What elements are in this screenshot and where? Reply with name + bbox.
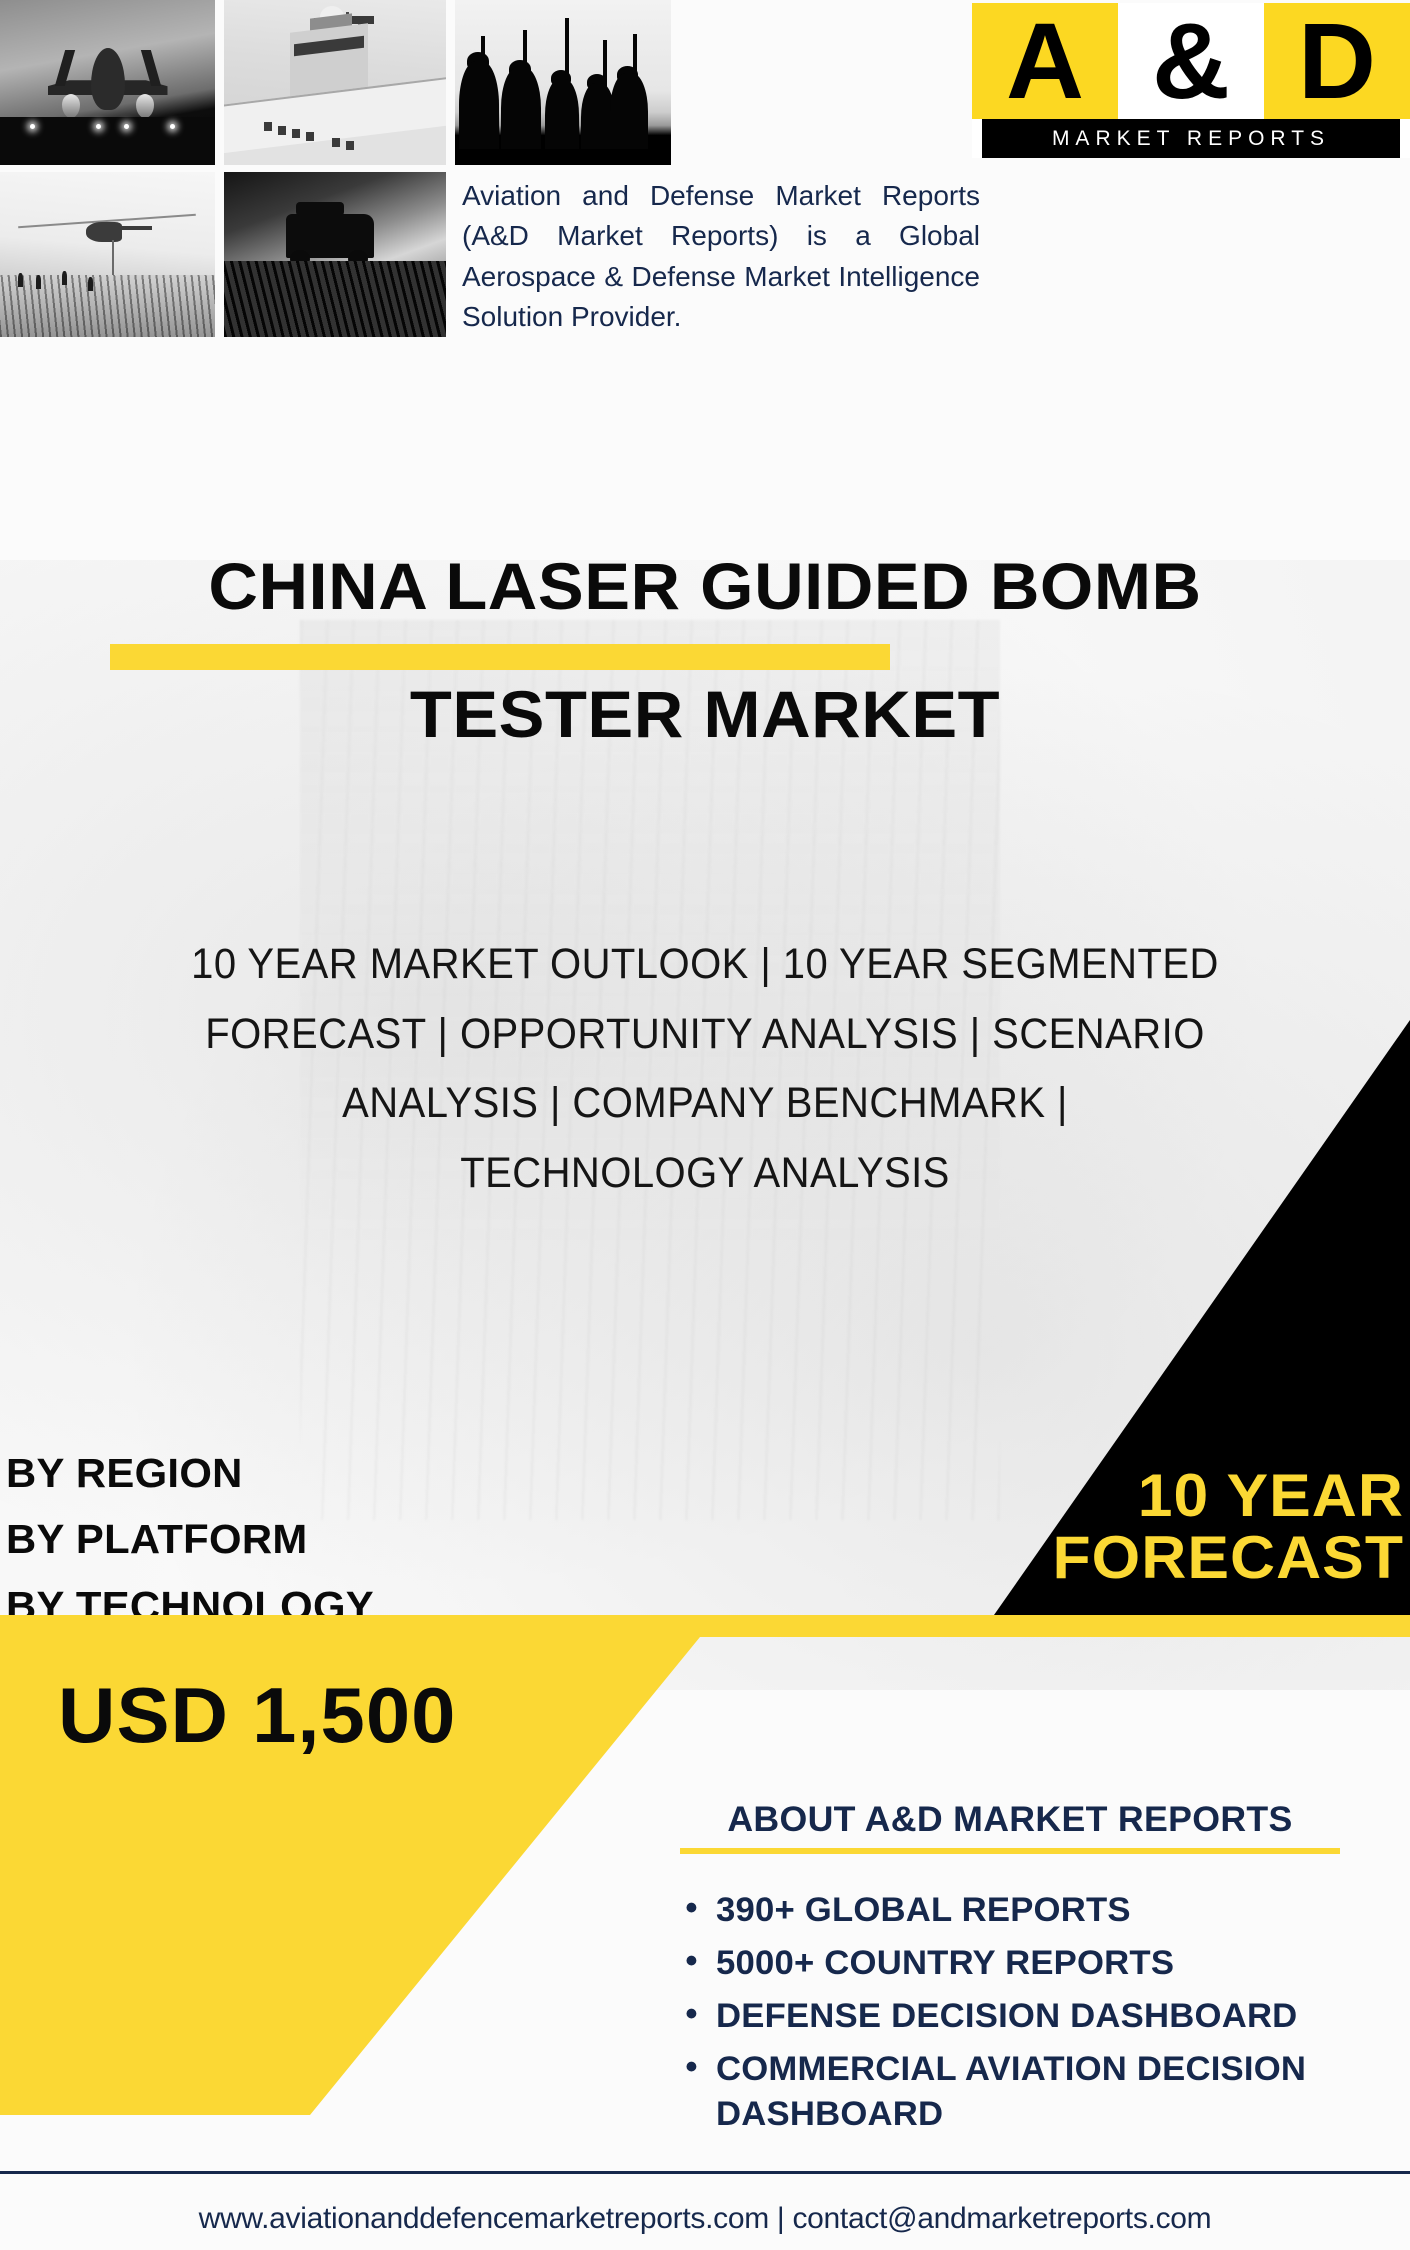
segmentation-item-platform: BY PLATFORM xyxy=(6,1506,638,1572)
segmentation-list: BY REGION BY PLATFORM BY TECHNOLOGY xyxy=(6,1440,626,1639)
about-list-item: 390+ GLOBAL REPORTS xyxy=(716,1888,1373,1933)
segmentation-item-region: BY REGION xyxy=(6,1440,638,1506)
subtitle-block: 10 YEAR MARKET OUTLOOK | 10 YEAR SEGMENT… xyxy=(0,930,1410,1209)
about-heading: ABOUT A&D MARKET REPORTS xyxy=(653,1800,1367,1840)
report-cover-page: A & D MARKET REPORTS Aviation and Defens… xyxy=(0,0,1410,2250)
photo-soldiers-silhouette xyxy=(455,0,671,165)
about-list-item: 5000+ COUNTRY REPORTS xyxy=(716,1941,1373,1986)
subtitle-line-3: ANALYSIS | COMPANY BENCHMARK | xyxy=(49,1069,1360,1139)
about-list-item: DEFENSE DECISION DASHBOARD xyxy=(716,1994,1373,2039)
page-title-line1: CHINA LASER GUIDED BOMB xyxy=(0,548,1410,624)
about-section: ABOUT A&D MARKET REPORTS 390+ GLOBAL REP… xyxy=(660,1800,1360,2144)
logo-cell-a: A xyxy=(972,3,1118,119)
forecast-badge-line1: 10 YEAR xyxy=(963,1465,1404,1526)
about-heading-rule xyxy=(680,1848,1340,1854)
logo-letter-a: A xyxy=(1006,10,1084,112)
subtitle-line-4: TECHNOLOGY ANALYSIS xyxy=(49,1139,1360,1209)
title-underline-rule xyxy=(110,644,890,670)
logo-cell-ampersand: & xyxy=(1118,3,1264,119)
photo-naval-warship xyxy=(224,0,446,165)
subtitle-line-2: FORECAST | OPPORTUNITY ANALYSIS | SCENAR… xyxy=(49,1000,1360,1070)
page-title-line2: TESTER MARKET xyxy=(0,676,1410,752)
forecast-badge: 10 YEAR FORECAST xyxy=(980,1465,1410,1591)
subtitle-line-1: 10 YEAR MARKET OUTLOOK | 10 YEAR SEGMENT… xyxy=(49,930,1360,1000)
photo-fighter-jet-on-carrier-deck xyxy=(0,0,215,165)
company-description: Aviation and Defense Market Reports (A&D… xyxy=(462,176,980,337)
forecast-badge-line2: FORECAST xyxy=(963,1526,1404,1591)
photo-military-helicopter-over-field xyxy=(0,172,215,337)
logo-letter-ampersand: & xyxy=(1152,10,1230,112)
brand-logo: A & D MARKET REPORTS xyxy=(972,3,1410,158)
logo-tagline: MARKET REPORTS xyxy=(1052,127,1330,151)
logo-cell-d: D xyxy=(1264,3,1410,119)
about-list-item: COMMERCIAL AVIATION DECISION DASHBOARD xyxy=(716,2047,1373,2137)
footer-contact[interactable]: www.aviationanddefencemarketreports.com … xyxy=(0,2202,1410,2236)
about-bullet-list: 390+ GLOBAL REPORTS 5000+ COUNTRY REPORT… xyxy=(660,1888,1360,2136)
photo-armored-vehicle-at-dusk xyxy=(224,172,446,337)
price-label: USD 1,500 xyxy=(58,1670,456,1761)
logo-tagline-bar: MARKET REPORTS xyxy=(982,119,1400,158)
footer-divider xyxy=(0,2171,1410,2174)
logo-letters: A & D xyxy=(972,3,1410,119)
logo-letter-d: D xyxy=(1298,10,1376,112)
